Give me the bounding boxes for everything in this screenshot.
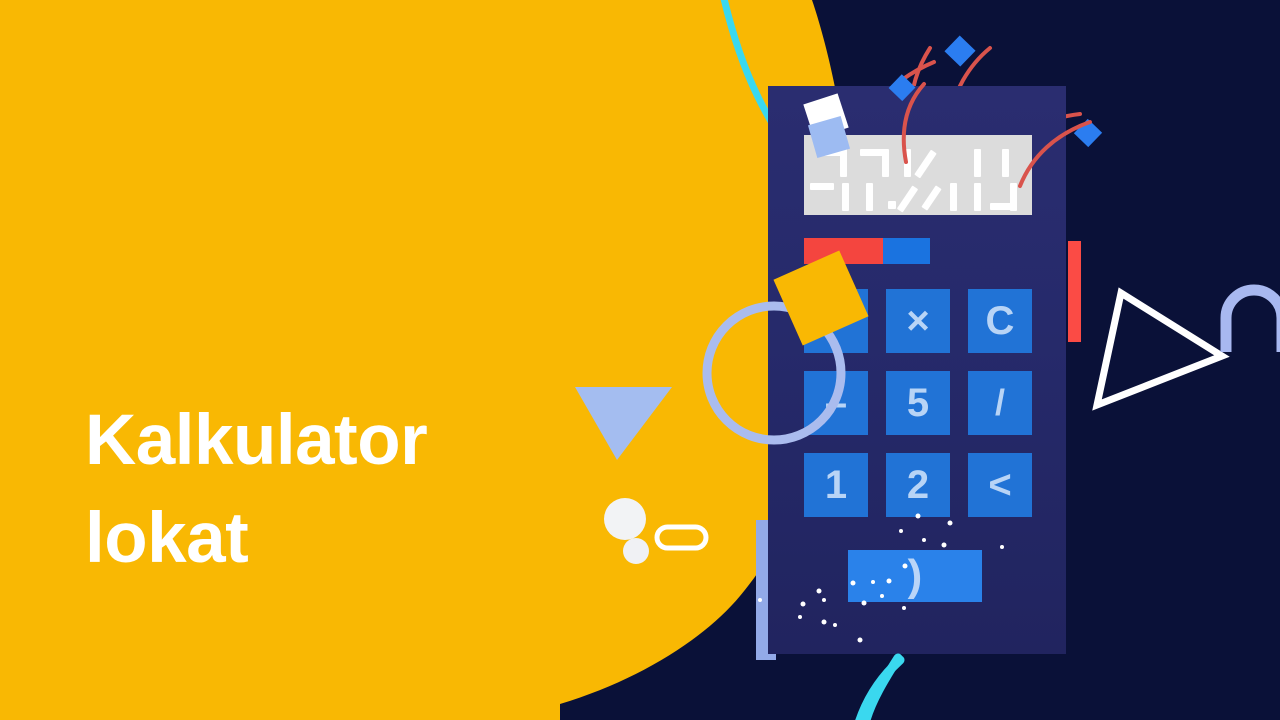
- periwinkle-triangle-down: [575, 387, 672, 460]
- confetti-diamond: [944, 35, 975, 66]
- sparkle-dots: [758, 514, 1004, 643]
- white-circle-small: [623, 538, 649, 564]
- decor-front: [0, 0, 1280, 720]
- white-pill-outline: [657, 527, 706, 548]
- yellow-square: [773, 250, 868, 345]
- cyan-arc-cross: [866, 658, 898, 720]
- red-vertical-bar: [1068, 241, 1081, 342]
- poster-canvas: × C – 5 / 1 2 < ): [0, 0, 1280, 720]
- white-circle-large: [604, 498, 646, 540]
- confetti-diamond: [889, 74, 916, 101]
- periwinkle-hook: [1226, 290, 1280, 352]
- white-triangle-outline: [1097, 293, 1222, 405]
